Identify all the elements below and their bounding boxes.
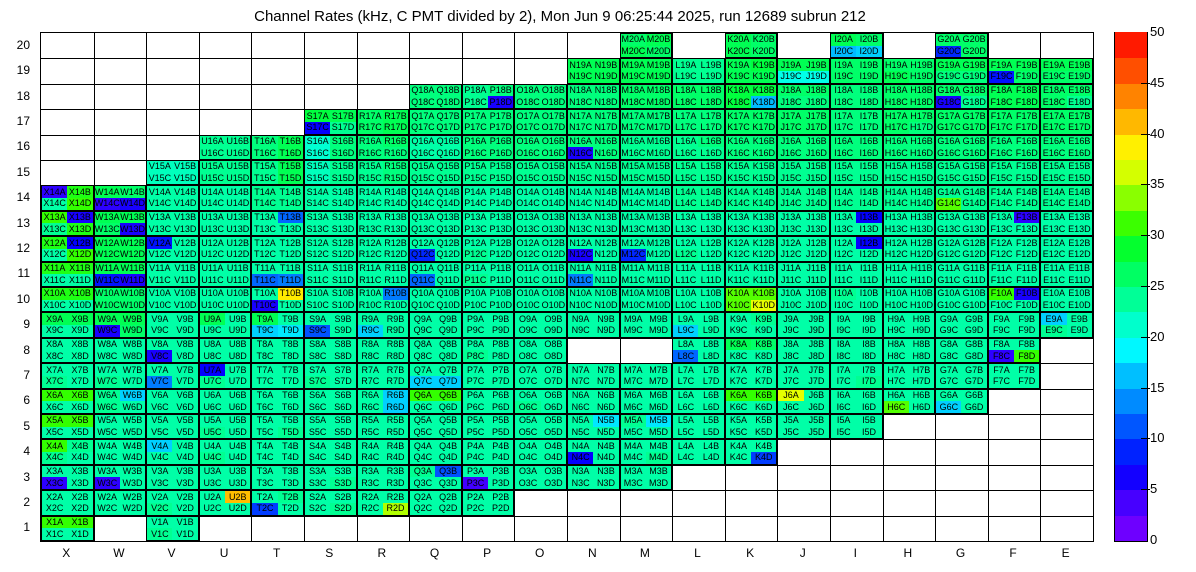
channel-f16d: F16D — [1014, 147, 1039, 159]
channel-x12c: X12C — [42, 249, 67, 261]
channel-x7a: X7A — [42, 364, 67, 376]
channel-n3a: N3A — [568, 466, 593, 478]
channel-j5d: J5D — [804, 427, 829, 439]
x-axis-label-f: F — [987, 546, 1040, 560]
heatmap-cell: L4AL4BL4CL4D — [672, 439, 725, 464]
colorbar-tick-40: 40 — [1150, 126, 1164, 141]
colorbar-tick-15: 15 — [1150, 380, 1164, 395]
channel-h13c: H13C — [884, 223, 909, 235]
heatmap-cell: L17AL17BL17CL17D — [672, 109, 725, 134]
heatmap-cell: G20AG20BG20CG20D — [935, 33, 988, 58]
channel-t14d: T14D — [278, 198, 303, 210]
channel-t6a: T6A — [252, 390, 277, 402]
channel-u8d: U8D — [225, 350, 250, 362]
channel-t2c: T2C — [252, 503, 277, 515]
y-axis: 2019181716151413121110987654321 — [0, 32, 34, 542]
channel-j7c: J7C — [778, 376, 803, 388]
channel-p14d: P14D — [488, 198, 513, 210]
heatmap-cell: T14AT14BT14CT14D — [251, 185, 304, 210]
channel-n19c: N19C — [568, 71, 593, 83]
grid-row-line — [41, 58, 1093, 59]
channel-e18d: E18D — [1067, 96, 1092, 108]
channel-k4d: K4D — [751, 452, 776, 464]
heatmap-cell: X3AX3BX3CX3D — [41, 465, 94, 490]
channel-t11a: T11A — [252, 263, 277, 275]
channel-e16b: E16B — [1067, 136, 1092, 148]
heatmap-cell: G6AG6BG6CG6D — [935, 389, 988, 414]
heatmap-cell: M12AM12BM12CM12D — [620, 236, 673, 261]
channel-w12a: W12A — [95, 237, 120, 249]
channel-s10c: S10C — [305, 300, 330, 312]
channel-r7d: R7D — [383, 376, 408, 388]
heatmap-plot: M20AM20BM20CM20DK20AK20BK20CK20DI20AI20B… — [40, 32, 1094, 542]
channel-k17b: K17B — [751, 110, 776, 122]
channel-q14b: Q14B — [435, 186, 460, 198]
channel-s8b: S8B — [330, 339, 355, 351]
heatmap-cell-empty — [409, 58, 462, 83]
heatmap-cell: S17AS17BS17CS17D — [304, 109, 357, 134]
channel-w10c: W10C — [95, 300, 120, 312]
x-axis-label-p: P — [461, 546, 514, 560]
channel-o5a: O5A — [515, 415, 540, 427]
heatmap-cell-empty — [935, 465, 988, 490]
channel-t4b: T4B — [278, 440, 303, 452]
y-axis-label-7: 7 — [0, 368, 30, 382]
channel-m16b: M16B — [646, 136, 671, 148]
channel-o15d: O15D — [541, 173, 566, 185]
channel-q17d: Q17D — [435, 122, 460, 134]
heatmap-cell-empty — [304, 58, 357, 83]
channel-g8a: G8A — [936, 339, 961, 351]
channel-i8a: I8A — [831, 339, 856, 351]
channel-l9d: L9D — [698, 325, 723, 337]
colorbar-tick-mark — [1141, 286, 1150, 287]
heatmap-cell: W12AW12BW12CW12D — [94, 236, 147, 261]
heatmap-cell: X1AX1BX1CX1D — [41, 516, 94, 541]
channel-g12b: G12B — [961, 237, 986, 249]
heatmap-cell: G12AG12BG12CG12D — [935, 236, 988, 261]
channel-q8b: Q8B — [435, 339, 460, 351]
heatmap-cell-empty — [830, 465, 883, 490]
channel-s15a: S15A — [305, 161, 330, 173]
heatmap-cell: K8AK8BK8CK8D — [725, 338, 778, 363]
grid-row-line — [41, 185, 1093, 186]
channel-v3a: V3A — [147, 466, 172, 478]
y-axis-label-11: 11 — [0, 266, 30, 280]
channel-v10a: V10A — [147, 288, 172, 300]
channel-w7c: W7C — [95, 376, 120, 388]
channel-i5b: I5B — [856, 415, 881, 427]
channel-e11d: E11D — [1067, 274, 1092, 286]
channel-p3a: P3A — [463, 466, 488, 478]
channel-u6a: U6A — [200, 390, 225, 402]
channel-p17b: P17B — [488, 110, 513, 122]
channel-q2c: Q2C — [410, 503, 435, 515]
channel-v9d: V9D — [172, 325, 197, 337]
channel-n12b: N12B — [593, 237, 618, 249]
heatmap-cell: L19AL19BL19CL19D — [672, 58, 725, 83]
channel-s5c: S5C — [305, 427, 330, 439]
heatmap-cell: K6AK6BK6CK6D — [725, 389, 778, 414]
channel-s17d: S17D — [330, 122, 355, 134]
channel-x6a: X6A — [42, 390, 67, 402]
channel-s14d: S14D — [330, 198, 355, 210]
channel-h16a: H16A — [884, 136, 909, 148]
channel-q11c: Q11C — [410, 274, 435, 286]
channel-q18a: Q18A — [410, 85, 435, 97]
heatmap-cell: P16AP16BP16CP16D — [462, 135, 515, 160]
channel-r5a: R5A — [358, 415, 383, 427]
channel-j19d: J19D — [804, 71, 829, 83]
channel-t2d: T2D — [278, 503, 303, 515]
channel-f13c: F13C — [989, 223, 1014, 235]
channel-r9b: R9B — [383, 313, 408, 325]
channel-k5d: K5D — [751, 427, 776, 439]
channel-s17a: S17A — [305, 110, 330, 122]
heatmap-cell: K18AK18BK18CK18D — [725, 84, 778, 109]
channel-p11a: P11A — [463, 263, 488, 275]
channel-s9a: S9A — [305, 313, 330, 325]
channel-l8b: L8B — [698, 339, 723, 351]
heatmap-cell: W13AW13BW13CW13D — [94, 211, 147, 236]
channel-p7c: P7C — [463, 376, 488, 388]
channel-e18b: E18B — [1067, 85, 1092, 97]
channel-n6a: N6A — [568, 390, 593, 402]
channel-h14b: H14B — [909, 186, 934, 198]
channel-r7a: R7A — [358, 364, 383, 376]
heatmap-cell-empty — [725, 516, 778, 541]
channel-j17a: J17A — [778, 110, 803, 122]
colorbar-band — [1115, 362, 1147, 388]
channel-l6a: L6A — [673, 390, 698, 402]
heatmap-cell: F17AF17BF17CF17D — [988, 109, 1041, 134]
channel-l19b: L19B — [698, 59, 723, 71]
heatmap-cell: O3AO3BO3CO3D — [514, 465, 567, 490]
channel-p8d: P8D — [488, 350, 513, 362]
channel-v9a: V9A — [147, 313, 172, 325]
channel-v7b: V7B — [172, 364, 197, 376]
channel-l6b: L6B — [698, 390, 723, 402]
channel-n5b: N5B — [593, 415, 618, 427]
heatmap-cell: K12AK12BK12CK12D — [725, 236, 778, 261]
channel-k16d: K16D — [751, 147, 776, 159]
heatmap-cell: G8AG8BG8CG8D — [935, 338, 988, 363]
x-axis-label-h: H — [882, 546, 935, 560]
heatmap-cell: I10AI10BI10CI10D — [830, 287, 883, 312]
channel-f12d: F12D — [1014, 249, 1039, 261]
grid-row-line — [41, 160, 1093, 161]
channel-h12c: H12C — [884, 249, 909, 261]
channel-f16c: F16C — [989, 147, 1014, 159]
channel-i6d: I6D — [856, 401, 881, 413]
channel-m15c: M15C — [621, 173, 646, 185]
heatmap-cell: H11AH11BH11CH11D — [883, 262, 936, 287]
heatmap-cell-empty — [41, 84, 94, 109]
heatmap-cell-empty — [883, 516, 936, 541]
heatmap-cell: J16AJ16BJ16CJ16D — [777, 135, 830, 160]
channel-n11b: N11B — [593, 263, 618, 275]
channel-i20d: I20D — [856, 46, 881, 58]
channel-f18b: F18B — [1014, 85, 1039, 97]
heatmap-cell: S8AS8BS8CS8D — [304, 338, 357, 363]
channel-t12d: T12D — [278, 249, 303, 261]
channel-e17d: E17D — [1067, 122, 1092, 134]
colorbar-tick-mark — [1141, 337, 1150, 338]
channel-k6c: K6C — [726, 401, 751, 413]
channel-t8a: T8A — [252, 339, 277, 351]
channel-k8b: K8B — [751, 339, 776, 351]
channel-m3b: M3B — [646, 466, 671, 478]
channel-h15b: H15B — [909, 161, 934, 173]
heatmap-cell: J9AJ9BJ9CJ9D — [777, 312, 830, 337]
channel-r3c: R3C — [358, 477, 383, 489]
channel-h16d: H16D — [909, 147, 934, 159]
channel-q17b: Q17B — [435, 110, 460, 122]
channel-e15d: E15D — [1067, 173, 1092, 185]
channel-v13a: V13A — [147, 212, 172, 224]
channel-k18c: K18C — [726, 96, 751, 108]
channel-w13b: W13B — [120, 212, 145, 224]
channel-h11c: H11C — [884, 274, 909, 286]
channel-g11c: G11C — [936, 274, 961, 286]
channel-k17a: K17A — [726, 110, 751, 122]
channel-j16c: J16C — [778, 147, 803, 159]
heatmap-cell-empty — [41, 33, 94, 58]
channel-j13c: J13C — [778, 223, 803, 235]
heatmap-cell-empty — [94, 160, 147, 185]
x-axis-label-n: N — [566, 546, 619, 560]
channel-e13a: E13A — [1041, 212, 1066, 224]
channel-r11b: R11B — [383, 263, 408, 275]
channel-o14c: O14C — [515, 198, 540, 210]
channel-l15a: L15A — [673, 161, 698, 173]
channel-o14a: O14A — [515, 186, 540, 198]
channel-x8d: X8D — [67, 350, 92, 362]
channel-m19c: M19C — [621, 71, 646, 83]
channel-g19a: G19A — [936, 59, 961, 71]
channel-l18a: L18A — [673, 85, 698, 97]
heatmap-cell: I9AI9BI9CI9D — [830, 312, 883, 337]
heatmap-cell-empty — [988, 414, 1041, 439]
channel-f16a: F16A — [989, 136, 1014, 148]
channel-n12c: N12C — [568, 249, 593, 261]
channel-m12b: M12B — [646, 237, 671, 249]
channel-i8b: I8B — [856, 339, 881, 351]
heatmap-cell: E18AE18BE18CE18D — [1040, 84, 1093, 109]
channel-k6a: K6A — [726, 390, 751, 402]
channel-k5c: K5C — [726, 427, 751, 439]
heatmap-cell: O10AO10BO10CO10D — [514, 287, 567, 312]
heatmap-cell-empty — [94, 109, 147, 134]
channel-m7d: M7D — [646, 376, 671, 388]
heatmap-cell: P2AP2BP2CP2D — [462, 490, 515, 515]
channel-e19d: E19D — [1067, 71, 1092, 83]
channel-q13a: Q13A — [410, 212, 435, 224]
channel-p12a: P12A — [463, 237, 488, 249]
heatmap-cell-empty — [988, 439, 1041, 464]
channel-m18d: M18D — [646, 96, 671, 108]
channel-n10a: N10A — [568, 288, 593, 300]
channel-i5d: I5D — [856, 427, 881, 439]
channel-e11c: E11C — [1041, 274, 1066, 286]
heatmap-cell: J18AJ18BJ18CJ18D — [777, 84, 830, 109]
channel-i17a: I17A — [831, 110, 856, 122]
channel-i16d: I16D — [856, 147, 881, 159]
channel-f13d: F13D — [1014, 223, 1039, 235]
channel-s6a: S6A — [305, 390, 330, 402]
channel-t9a: T9A — [252, 313, 277, 325]
heatmap-cell: K16AK16BK16CK16D — [725, 135, 778, 160]
channel-s9b: S9B — [330, 313, 355, 325]
channel-k16b: K16B — [751, 136, 776, 148]
channel-m17d: M17D — [646, 122, 671, 134]
channel-e14a: E14A — [1041, 186, 1066, 198]
channel-e14d: E14D — [1067, 198, 1092, 210]
channel-g6c: G6C — [936, 401, 961, 413]
channel-f18c: F18C — [989, 96, 1014, 108]
channel-o13b: O13B — [541, 212, 566, 224]
channel-u9a: U9A — [200, 313, 225, 325]
channel-g20d: G20D — [961, 46, 986, 58]
channel-e12b: E12B — [1067, 237, 1092, 249]
heatmap-cell: M4AM4BM4CM4D — [620, 439, 673, 464]
channel-u7d: U7D — [225, 376, 250, 388]
channel-x1a: X1A — [42, 517, 67, 529]
channel-w14c: W14C — [95, 198, 120, 210]
heatmap-cell-empty — [672, 465, 725, 490]
channel-h6d: H6D — [909, 401, 934, 413]
heatmap-cell: R17AR17BR17CR17D — [357, 109, 410, 134]
channel-k10b: K10B — [751, 288, 776, 300]
heatmap-cell-empty — [357, 84, 410, 109]
channel-p15a: P15A — [463, 161, 488, 173]
channel-u7b: U7B — [225, 364, 250, 376]
heatmap-cell-empty — [883, 465, 936, 490]
heatmap-cell: Q11AQ11BQ11CQ11D — [409, 262, 462, 287]
channel-k12a: K12A — [726, 237, 751, 249]
heatmap-cell: F13AF13BF13CF13D — [988, 211, 1041, 236]
channel-x2a: X2A — [42, 491, 67, 503]
channel-p9b: P9B — [488, 313, 513, 325]
channel-p12c: P12C — [463, 249, 488, 261]
channel-l18b: L18B — [698, 85, 723, 97]
heatmap-cell: I19AI19BI19CI19D — [830, 58, 883, 83]
channel-v12b: V12B — [172, 237, 197, 249]
colorbar-band — [1115, 184, 1147, 210]
channel-v6d: V6D — [172, 401, 197, 413]
heatmap-cell: X9AX9BX9CX9D — [41, 312, 94, 337]
channel-o4d: O4D — [541, 452, 566, 464]
channel-j13b: J13B — [804, 212, 829, 224]
channel-h6c: H6C — [884, 401, 909, 413]
channel-h13b: H13B — [909, 212, 934, 224]
channel-o3c: O3C — [515, 477, 540, 489]
heatmap-cell-empty — [357, 58, 410, 83]
grid-row-line — [41, 516, 1093, 517]
heatmap-cell: T16AT16BT16CT16D — [251, 135, 304, 160]
channel-p9d: P9D — [488, 325, 513, 337]
channel-o11a: O11A — [515, 263, 540, 275]
channel-x13a: X13A — [42, 212, 67, 224]
channel-n9b: N9B — [593, 313, 618, 325]
channel-o12b: O12B — [541, 237, 566, 249]
channel-l9b: L9B — [698, 313, 723, 325]
x-axis-label-x: X — [40, 546, 93, 560]
channel-o10a: O10A — [515, 288, 540, 300]
channel-h6b: H6B — [909, 390, 934, 402]
channel-q5d: Q5D — [435, 427, 460, 439]
channel-j15d: J15D — [804, 173, 829, 185]
channel-s15c: S15C — [305, 173, 330, 185]
channel-j18c: J18C — [778, 96, 803, 108]
heatmap-cell-empty — [883, 439, 936, 464]
channel-j6b: J6B — [804, 390, 829, 402]
channel-r9a: R9A — [358, 313, 383, 325]
heatmap-cell: T6AT6BT6CT6D — [251, 389, 304, 414]
heatmap-cell-empty — [1040, 389, 1093, 414]
heatmap-cell: O18AO18BO18CO18D — [514, 84, 567, 109]
channel-u10b: U10B — [225, 288, 250, 300]
channel-r8a: R8A — [358, 339, 383, 351]
channel-r14a: R14A — [358, 186, 383, 198]
channel-t11c: T11C — [252, 274, 277, 286]
channel-o3b: O3B — [541, 466, 566, 478]
heatmap-cell: J15AJ15BJ15CJ15D — [777, 160, 830, 185]
heatmap-cell: X2AX2BX2CX2D — [41, 490, 94, 515]
heatmap-cell: J6AJ6BJ6CJ6D — [777, 389, 830, 414]
channel-s10d: S10D — [330, 300, 355, 312]
channel-m10a: M10A — [621, 288, 646, 300]
channel-o12a: O12A — [515, 237, 540, 249]
channel-o15c: O15C — [515, 173, 540, 185]
channel-m7b: M7B — [646, 364, 671, 376]
channel-p18b: P18B — [488, 85, 513, 97]
channel-j12c: J12C — [778, 249, 803, 261]
channel-r4a: R4A — [358, 440, 383, 452]
channel-i9b: I9B — [856, 313, 881, 325]
channel-x9a: X9A — [42, 313, 67, 325]
channel-w9a: W9A — [95, 313, 120, 325]
channel-j5a: J5A — [778, 415, 803, 427]
channel-q5a: Q5A — [410, 415, 435, 427]
channel-m16c: M16C — [621, 147, 646, 159]
channel-o16d: O16D — [541, 147, 566, 159]
heatmap-cell: Q2AQ2BQ2CQ2D — [409, 490, 462, 515]
heatmap-cell: G19AG19BG19CG19D — [935, 58, 988, 83]
channel-m11b: M11B — [646, 263, 671, 275]
channel-n9d: N9D — [593, 325, 618, 337]
heatmap-cell: O5AO5BO5CO5D — [514, 414, 567, 439]
channel-s4b: S4B — [330, 440, 355, 452]
channel-v10d: V10D — [172, 300, 197, 312]
channel-n15d: N15D — [593, 173, 618, 185]
channel-n10b: N10B — [593, 288, 618, 300]
channel-x10d: X10D — [67, 300, 92, 312]
channel-x8a: X8A — [42, 339, 67, 351]
heatmap-cell: M20AM20BM20CM20D — [620, 33, 673, 58]
heatmap-cell: V15AV15BV15CV15D — [146, 160, 199, 185]
heatmap-cell-empty — [1040, 338, 1093, 363]
heatmap-cell: O15AO15BO15CO15D — [514, 160, 567, 185]
y-axis-label-1: 1 — [0, 520, 30, 534]
channel-v15a: V15A — [147, 161, 172, 173]
channel-m10b: M10B — [646, 288, 671, 300]
heatmap-cell-empty — [1040, 33, 1093, 58]
channel-k6d: K6D — [751, 401, 776, 413]
channel-f11c: F11C — [989, 274, 1014, 286]
channel-v6a: V6A — [147, 390, 172, 402]
channel-r14c: R14C — [358, 198, 383, 210]
